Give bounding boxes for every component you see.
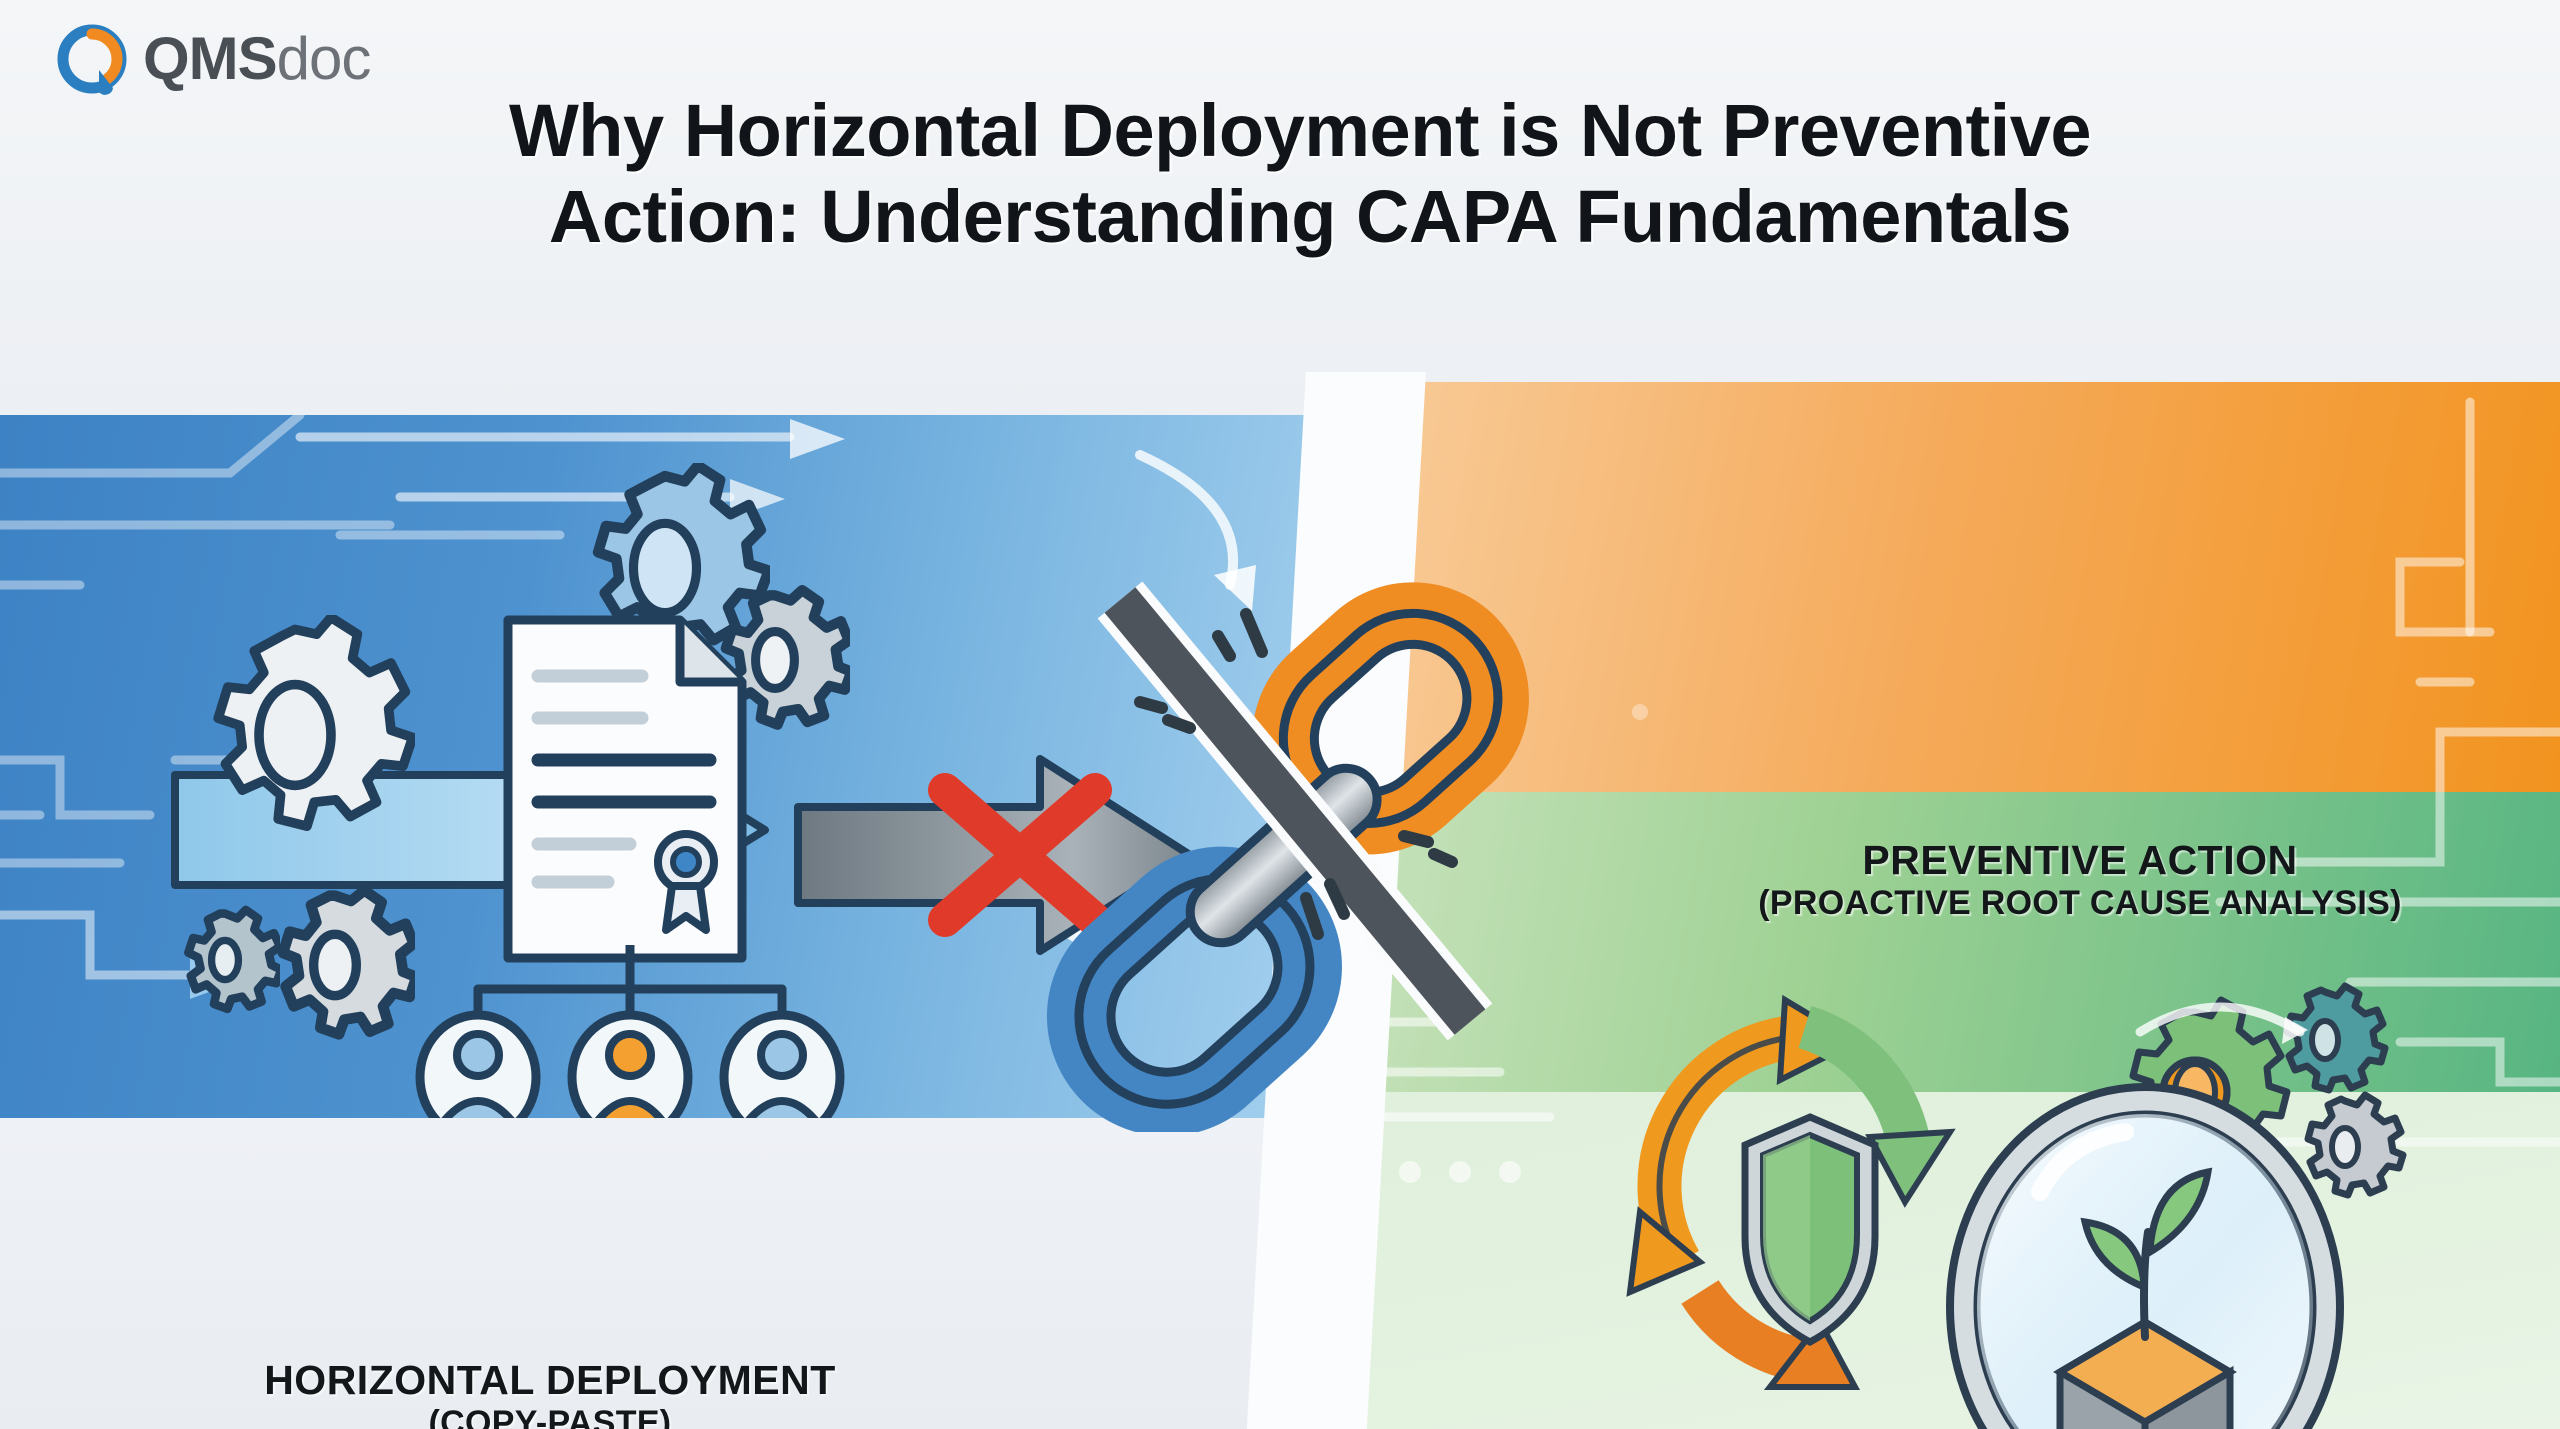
left-panel-label: HORIZONTAL DEPLOYMENT (COPY-PASTE) — [100, 1357, 1000, 1429]
page-title-line-2: Action: Understanding CAPA Fundamentals — [0, 174, 2560, 260]
broken-chain-link-icon — [1000, 552, 1570, 1132]
infographic-canvas: QMSdoc Why Horizontal Deployment is Not … — [0, 0, 2560, 1429]
qmsdoc-circle-q-logo-icon — [55, 22, 129, 96]
seal-icon — [658, 834, 714, 930]
brand-name: QMSdoc — [143, 29, 370, 89]
person-icon — [724, 1015, 840, 1118]
tiny-gear-icon — [170, 905, 280, 1015]
comparison-panels: HORIZONTAL DEPLOYMENT (COPY-PASTE) NOT P… — [0, 382, 2560, 1429]
right-panel-top-label: PREVENTIVE ACTION (PROACTIVE ROOT CAUSE … — [1620, 837, 2540, 923]
document-with-seal-icon — [490, 610, 760, 970]
header-band: QMSdoc Why Horizontal Deployment is Not … — [0, 0, 2560, 415]
page-title: Why Horizontal Deployment is Not Prevent… — [0, 88, 2560, 260]
gear-icon — [175, 615, 415, 855]
left-panel-label-sub: (COPY-PASTE) — [100, 1404, 1000, 1429]
page-title-line-1: Why Horizontal Deployment is Not Prevent… — [0, 88, 2560, 174]
brand-name-bold: QMS — [143, 25, 277, 92]
left-panel-label-main: HORIZONTAL DEPLOYMENT — [100, 1357, 1000, 1404]
right-panel-top-label-sub: (PROACTIVE ROOT CAUSE ANALYSIS) — [1620, 884, 2540, 923]
right-panel-top-label-main: PREVENTIVE ACTION — [1620, 837, 2540, 884]
person-icon — [420, 1015, 536, 1118]
highlighted-person-icon — [572, 1015, 688, 1118]
magnifier-cube-sprout-icon — [1930, 1072, 2400, 1429]
brand-name-light: doc — [277, 25, 371, 92]
brand-logo[interactable]: QMSdoc — [55, 22, 370, 96]
org-chart-people-icon — [400, 945, 860, 1118]
